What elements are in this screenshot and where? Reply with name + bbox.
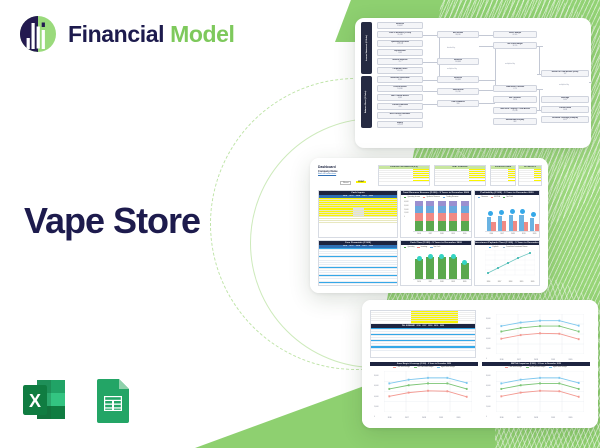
stacked-bar-segment — [438, 206, 446, 213]
flowchart-node-value: 882 — [514, 122, 517, 124]
panel-header: Gross Margin & Leverage ($ 000) - 5 Year… — [370, 362, 478, 366]
stacked-bar-segment — [461, 221, 469, 231]
chart-legend: Cost Gross MarginEBITDA Gross MarginMgmt… — [370, 367, 478, 368]
flowchart-node: Return on Total Assets (ROA)137 — [541, 70, 589, 77]
flowchart-band-balance-sheet: Balance Sheet (2 Units) — [361, 76, 372, 128]
flowchart-node: Total Asset Turnover4.73 — [493, 85, 537, 92]
axis-tick-label: 2016 — [484, 282, 493, 283]
stacked-bar-segment — [461, 213, 469, 221]
axis-tick-label: 2019 — [549, 359, 558, 361]
flowchart-node: Equity20,223 — [377, 121, 423, 128]
flowchart-connector — [479, 80, 495, 81]
axis-tick-label: 2016 — [385, 417, 394, 419]
data-label-bubble — [417, 256, 422, 261]
flowchart-node: Total Liabilities998 — [437, 100, 479, 107]
dashboard-panel-cash-inputs: Cash Inputs2016 2017 2018 2019 2020 — [318, 190, 398, 238]
axis-tick-label: 2019 — [519, 234, 528, 235]
bar — [415, 259, 423, 279]
flowchart-node-value: 91,088 — [397, 35, 402, 37]
stacked-bar-segment — [438, 221, 446, 231]
axis-tick-label: 2019 — [517, 282, 526, 283]
data-label-bubble — [428, 254, 433, 259]
brand-name-part2: Model — [170, 21, 234, 47]
flowchart-node-value: 62.0% — [513, 35, 518, 37]
file-format-icons: X — [20, 376, 136, 424]
dashboard-input-panel: FORECAST INFORMATION (4 yr) — [378, 165, 430, 186]
axis-tick-label: 2018 — [508, 234, 517, 235]
flowchart-divider-label: multiplied by — [505, 63, 515, 65]
flowchart-node: Current Ratio10.38 — [541, 106, 589, 113]
brand-logo: Financial Model — [18, 14, 235, 54]
axis-tick-label: 2019 — [549, 417, 558, 419]
flowchart-node: Gross Margin62.0% — [493, 31, 537, 38]
panel-header: Cash Flow ($ 000) - 5 Years to December … — [401, 241, 471, 245]
table-row — [319, 221, 397, 223]
flowchart-node-value: 38,030 — [455, 35, 460, 37]
axis-tick-label: 2020 — [566, 359, 575, 361]
axis-tick-label: 2018 — [532, 359, 541, 361]
flowchart-divider-label: divided by — [447, 47, 455, 49]
bar — [502, 221, 506, 231]
stacked-bar-segment — [426, 221, 434, 231]
linecard-panel-ebitda: 80,00060,00040,00020,0000201620172018201… — [482, 310, 590, 362]
dashboard-panel-core-financials: Core Financials ($ 000)2016 2017 2018 20… — [318, 240, 398, 286]
axis-tick-label: 2018 — [420, 417, 429, 419]
flowchart-node-value: 998 — [457, 104, 460, 106]
line-chart-plot — [496, 314, 584, 354]
dupont-ratio-flowchart-card[interactable]: Income Statement (2 Units)Balance Sheet … — [355, 18, 591, 148]
flowchart-node-value: 6,381 — [398, 98, 402, 100]
stacked-bar-segment — [449, 221, 457, 231]
margin-trends-card[interactable]: P&L SUMMARY 2016 2017 2018 2019 202080,0… — [362, 300, 598, 428]
panel-header: Investment Payback Chart ($ 000) - 5 Yea… — [475, 241, 539, 245]
axis-tick-label: 2020 — [454, 417, 463, 419]
flowchart-node: Non-Current Liabilities132 — [377, 112, 423, 119]
dashboard-input-row — [491, 179, 515, 181]
flowchart-node: Current Assets14,086 — [377, 85, 423, 92]
axis-tick-label: 2018 — [506, 282, 515, 283]
dashboard-print-button[interactable]: PRINT — [356, 181, 366, 183]
flowchart-node-value: 116,883 — [455, 62, 461, 64]
panel-header: EBITDA Comparison ($ 000) - 5 Years to D… — [482, 362, 590, 366]
dashboard-panel-cash-flow: Cash Flow ($ 000) - 5 Years to December … — [400, 240, 472, 286]
flowchart-connector — [537, 46, 543, 47]
panel-header: Total Revenue Streams ($ 000) - 5 Years … — [401, 191, 471, 195]
flowchart-node-value: 20,223 — [397, 125, 402, 127]
svg-text:X: X — [29, 391, 41, 411]
axis-tick-label: 2019 — [449, 282, 458, 283]
axis-scale: 80,00060,00040,00020,0000 — [486, 315, 491, 362]
dashboard-panel-revenue-streams: Total Revenue Streams ($ 000) - 5 Years … — [400, 190, 472, 238]
axis-tick-label: 2020 — [530, 234, 539, 235]
axis-tick-label: 2020 — [460, 282, 469, 283]
stacked-bar-segment — [438, 201, 446, 206]
flowchart-node: A/R Turnover24.14 — [493, 96, 537, 103]
axis-tick-label: 2017 — [402, 417, 411, 419]
axis-tick-label: 2020 — [528, 282, 537, 283]
payback-line-chart — [485, 250, 535, 279]
flowchart-node-value: 8,981 — [398, 80, 402, 82]
dashboard-title: Dashboard — [318, 165, 336, 169]
flowchart-canvas: Income Statement (2 Units)Balance Sheet … — [355, 18, 591, 148]
dashboard-panel-investment-payback: Investment Payback Chart ($ 000) - 5 Yea… — [474, 240, 540, 286]
chart-legend: Operating IncomeSynthetic RevenueTrading… — [404, 197, 458, 198]
flowchart-node: Cost of Revenue (COGS)91,088 — [377, 31, 423, 38]
flowchart-node-value: 14,086 — [397, 89, 402, 91]
data-label-bubble — [488, 211, 493, 216]
flowchart-connector — [537, 89, 543, 90]
bar — [426, 257, 434, 279]
flowchart-node-value: 121,728 — [397, 44, 403, 46]
dashboard-input-row — [435, 179, 485, 181]
axis-tick-label: 2018 — [437, 282, 446, 283]
axis-tick-label: 2016 — [497, 417, 506, 419]
flowchart-node: Operating Expenses121,728 — [377, 40, 423, 47]
flowchart-node-value: 4.73 — [513, 89, 516, 91]
stacked-bar-segment — [449, 201, 457, 206]
bar — [449, 257, 457, 279]
flowchart-node: Current Liabilities690 — [377, 103, 423, 110]
dashboard-panel-profitability: Profitability ($ 000) - 5 Years to Decem… — [474, 190, 540, 238]
flowchart-band-income-statement: Income Statement (2 Units) — [361, 22, 372, 74]
axis-tick-label: 2016 — [415, 282, 424, 283]
axis-tick-label: 2017 — [514, 359, 523, 361]
flowchart-node-value: 690 — [399, 107, 402, 109]
stacked-bar-segment — [415, 206, 423, 213]
axis-tick-label: 2016 — [415, 234, 424, 235]
line-chart-plot — [384, 371, 472, 412]
flowchart-node: Net Income38,030 — [437, 31, 479, 38]
stacked-bar-segment — [461, 201, 469, 206]
flowchart-node: Revenue216,897 — [377, 22, 423, 29]
axis-tick-label: 2017 — [426, 282, 435, 283]
flowchart-nodes: Income Statement (2 Units)Balance Sheet … — [355, 18, 591, 148]
linecard-panel-gross-margin: Gross Margin & Leverage ($ 000) - 5 Year… — [370, 362, 478, 420]
brand-wordmark: Financial Model — [68, 23, 235, 46]
flowchart-node: Financial Leverage (multiple)93.22 — [541, 116, 589, 123]
flowchart-connector — [539, 89, 540, 110]
flowchart-node-value: 93.22 — [563, 120, 567, 122]
flowchart-node-value: 24.14 — [513, 100, 517, 102]
data-label-bubble — [520, 209, 525, 214]
dashboard-input-panel: KPI METRICS — [518, 165, 542, 186]
data-label-bubble — [531, 212, 536, 217]
bar — [513, 221, 517, 231]
flowchart-connector — [539, 46, 540, 74]
data-label-bubble — [499, 210, 504, 215]
flowchart-node-value: 82,039 — [397, 71, 402, 73]
flowchart-connector — [495, 46, 496, 89]
flowchart-node: Leverage1.051 — [541, 96, 589, 103]
chart-legend: RevenueEBITDANet Profit — [478, 197, 513, 198]
flowchart-node: Total Debt + Equity = Total Assets20,236 — [493, 107, 537, 114]
flowchart-node: Total Assets20,236 — [437, 88, 479, 95]
stacked-bar-segment — [426, 206, 434, 213]
financial-model-circle-bars-logo — [18, 14, 58, 54]
data-label-bubble — [510, 209, 515, 214]
google-sheets-icon[interactable] — [88, 376, 136, 424]
axis-tick-label: 2017 — [426, 234, 435, 235]
bar — [461, 263, 469, 279]
stacked-bar-segment — [461, 206, 469, 213]
line-chart-plot — [496, 371, 584, 412]
flowchart-node-value: 217 — [399, 62, 402, 64]
stacked-bar-segment — [449, 206, 457, 213]
flowchart-node-value: 1,382 — [398, 53, 402, 55]
flowchart-node-value: 32.1% — [513, 46, 518, 48]
axis-tick-label: 2020 — [566, 417, 575, 419]
dashboard-reset-button[interactable]: Reset — [340, 181, 351, 185]
flowchart-divider-label: multiplied by — [559, 84, 569, 86]
data-label-bubble — [451, 254, 456, 259]
flowchart-node-value: 1.051 — [563, 100, 567, 102]
flowchart-node-value: 137 — [564, 74, 567, 76]
stacked-bar-segment — [426, 201, 434, 206]
axis-tick-label: 2016 — [487, 234, 496, 235]
flowchart-node-value: 116,883 — [455, 80, 461, 82]
bar — [438, 257, 446, 279]
financial-dashboard-card[interactable]: DashboardCompany NameBack to Instruction… — [310, 158, 548, 293]
flowchart-node-value: 20,236 — [512, 111, 517, 113]
stacked-bar-segment — [415, 213, 423, 221]
dashboard-input-row — [379, 179, 429, 181]
flowchart-divider-label: multiplied by — [447, 68, 457, 70]
dashboard-back-link[interactable]: Back to Instructions — [318, 173, 336, 175]
axis-tick-label: 2019 — [437, 417, 446, 419]
stacked-bar-segment — [415, 221, 423, 231]
flowchart-node: Revenue116,883 — [437, 58, 479, 65]
chart-legend: Cost Gross MarginEBITDA Gross MarginMgmt… — [482, 367, 590, 368]
flowchart-node-value: 216,897 — [397, 26, 403, 28]
page-title: Vape Store — [24, 200, 200, 242]
flowchart-node-value: 20,236 — [455, 92, 460, 94]
axis-tick-label: 2017 — [514, 417, 523, 419]
axis-tick-label: 2017 — [495, 282, 504, 283]
flowchart-node: Revenue116,883 — [437, 76, 479, 83]
flowchart-node: Interest Expense217 — [377, 58, 423, 65]
chart-legend: PaybackCumulative Investment Return — [489, 247, 527, 248]
dashboard-canvas: DashboardCompany NameBack to Instruction… — [310, 158, 548, 293]
brand-name-part1: Financial — [68, 21, 164, 47]
axis-tick-label: 2019 — [449, 234, 458, 235]
dashboard-input-panel: DEBT SCHEDULE — [434, 165, 486, 186]
flowchart-node-value: 10.38 — [563, 110, 567, 112]
stacked-bar-segment — [415, 201, 423, 206]
table-row — [319, 282, 397, 284]
flowchart-node: Depreciation1,382 — [377, 49, 423, 56]
dashboard-input-row — [519, 179, 541, 181]
flowchart-connector — [479, 103, 495, 104]
axis-scale: 80,00060,00040,00020,0000 — [374, 372, 379, 420]
axis-scale: 80,00060,00040,00020,0000 — [486, 372, 491, 420]
linecard-panel-assumptions: P&L SUMMARY 2016 2017 2018 2019 2020 — [370, 310, 476, 358]
stacked-bar-segment — [426, 213, 434, 221]
flowchart-node: Corporate Taxes82,039 — [377, 67, 423, 74]
axis-tick-label: 2020 — [460, 234, 469, 235]
dashboard-input-panel: SOURCES & USES — [490, 165, 516, 186]
axis-scale: 40,00030,00020,00010,0000 — [404, 201, 409, 220]
microsoft-excel-icon[interactable]: X — [20, 376, 68, 424]
table-row — [371, 349, 475, 351]
poster-canvas: Financial Model Vape Store X — [0, 0, 600, 448]
linecard-panel-ebitda-comparison: EBITDA Comparison ($ 000) - 5 Years to D… — [482, 362, 590, 420]
stacked-bar-segment — [449, 213, 457, 221]
chart-legend: OperatingInvestingNet Cash — [404, 247, 440, 248]
panel-header: Profitability ($ 000) - 5 Years to Decem… — [475, 191, 539, 195]
line-charts-canvas: P&L SUMMARY 2016 2017 2018 2019 202080,0… — [362, 300, 598, 428]
flowchart-node: Shareholders Equity882 — [493, 118, 537, 125]
flowchart-node: Non Current Assets6,381 — [377, 94, 423, 101]
axis-tick-label: 2016 — [497, 359, 506, 361]
stacked-bar-segment — [438, 213, 446, 221]
flowchart-node: Accounts Receivable8,981 — [377, 76, 423, 83]
flowchart-node: Net Profit Margin32.1% — [493, 42, 537, 49]
flowchart-node-value: 132 — [399, 116, 402, 118]
axis-tick-label: 2018 — [532, 417, 541, 419]
axis-tick-label: 2017 — [498, 234, 507, 235]
axis-tick-label: 2018 — [437, 234, 446, 235]
